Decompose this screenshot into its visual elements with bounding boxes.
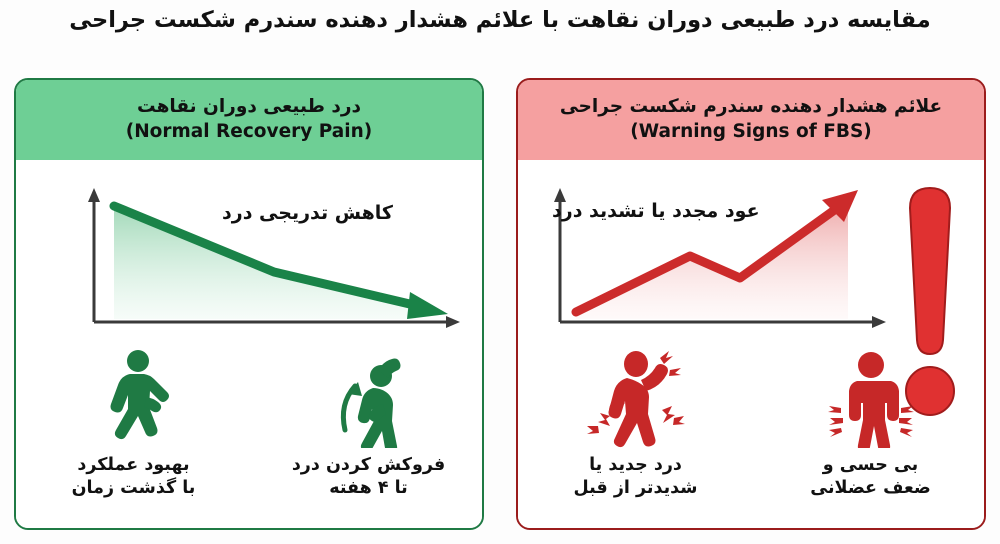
caption-numbness-weakness: بی حسی و ضعف عضلانی [810,454,930,500]
panel-header-title-en-warning: (Warning Signs of FBS) [630,121,871,144]
chart-label-gradual-decrease: کاهش تدریجی درد [222,202,393,224]
infographic-page: مقایسه درد طبیعی دوران نقاهت با علائم هش… [0,0,1000,544]
icon-row-normal-recovery: بهبود عملکرد با گذشت زمان [16,342,484,530]
panel-header-title-fa: درد طبیعی دوران نقاهت [137,96,361,119]
panel-header-warning-signs: علائم هشدار دهنده سندرم شکست جراحی (Warn… [518,80,984,160]
panel-header-title-fa-warning: علائم هشدار دهنده سندرم شکست جراحی [560,96,942,119]
item-improved-function: بهبود عملکرد با گذشت زمان [16,342,251,530]
warning-exclamation-icon [902,186,958,418]
panel-header-title-en: (Normal Recovery Pain) [126,121,373,144]
stretching-person-icon [321,342,417,448]
caption-pain-subsides: فروکش کردن درد تا ۴ هفته [292,454,445,500]
item-pain-subsides: فروکش کردن درد تا ۴ هفته [251,342,484,530]
caption-new-or-worse-pain: درد جدید یا شدیدتر از قبل [574,454,698,500]
panel-body-normal-recovery: کاهش تدریجی درد بهبود عملکرد با گذشت [16,160,482,530]
caption-improved-function: بهبود عملکرد با گذشت زمان [72,454,196,500]
person-in-pain-icon [584,342,688,448]
chart-label-pain-recurrence: عود مجدد یا تشدید درد [552,200,760,222]
panel-normal-recovery-pain: درد طبیعی دوران نقاهت (Normal Recovery P… [14,78,484,530]
walking-person-icon [97,342,171,448]
panel-header-normal-recovery: درد طبیعی دوران نقاهت (Normal Recovery P… [16,80,482,160]
page-title: مقایسه درد طبیعی دوران نقاهت با علائم هش… [0,6,1000,36]
chart-gradual-pain-decrease: کاهش تدریجی درد [16,174,484,344]
item-new-or-worse-pain: درد جدید یا شدیدتر از قبل [518,342,753,530]
